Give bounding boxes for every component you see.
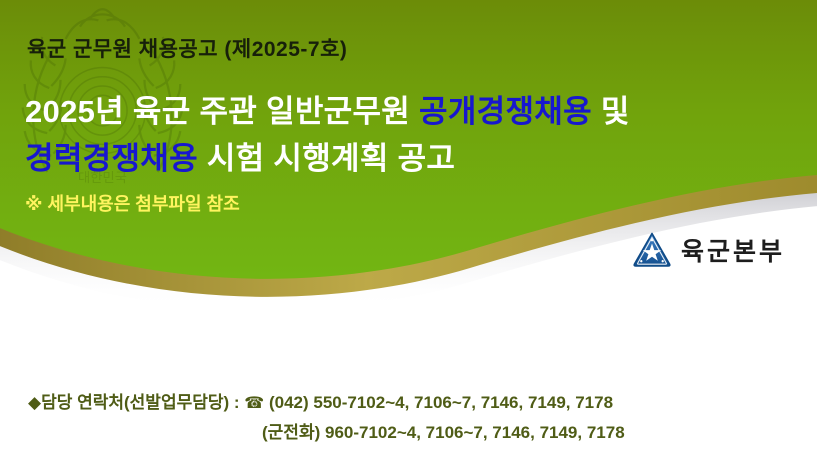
title-segment-blue-1: 공개경쟁채용	[419, 94, 592, 129]
main-title-line-2: 경력경쟁채용 시험 시행계획 공고	[25, 133, 455, 178]
title-segment-blue-2: 경력경쟁채용	[25, 141, 198, 176]
announcement-poster: 대한민국 육군 군무원 채용공고 (제2025-7호) 2025년 육군 주관 …	[0, 0, 817, 473]
main-title-line-1: 2025년 육군 주관 일반군무원 공개경쟁채용 및	[25, 86, 630, 131]
title-segment-white-2: 및	[592, 94, 630, 129]
title-segment-white-3: 시험 시행계획 공고	[198, 141, 455, 176]
contact-line-1: ◆담당 연락처(선발업무담당) : ☎ (042) 550-7102~4, 71…	[28, 388, 613, 419]
contact-area-code: (042)	[269, 393, 309, 412]
contact-numbers-civil: 550-7102~4, 7106~7, 7146, 7149, 7178	[313, 393, 613, 412]
announcement-number-kicker: 육군 군무원 채용공고 (제2025-7호)	[27, 33, 347, 63]
contact-label: ◆담당 연락처(선발업무담당) :	[28, 393, 240, 412]
contact-line-2: (군전화) 960-7102~4, 7106~7, 7146, 7149, 71…	[262, 418, 625, 448]
attachment-note: ※ 세부내용은 첨부파일 참조	[25, 190, 240, 216]
contact-military-label: (군전화)	[262, 423, 320, 442]
army-hq-logo: 육군본부	[632, 231, 785, 268]
army-hq-label: 육군본부	[681, 232, 785, 268]
contact-numbers-military: 960-7102~4, 7106~7, 7146, 7149, 7178	[325, 423, 625, 442]
title-segment-white-1: 2025년 육군 주관 일반군무원	[25, 94, 419, 129]
army-hq-triangle-star-icon	[632, 231, 672, 268]
telephone-icon: ☎	[244, 395, 264, 412]
